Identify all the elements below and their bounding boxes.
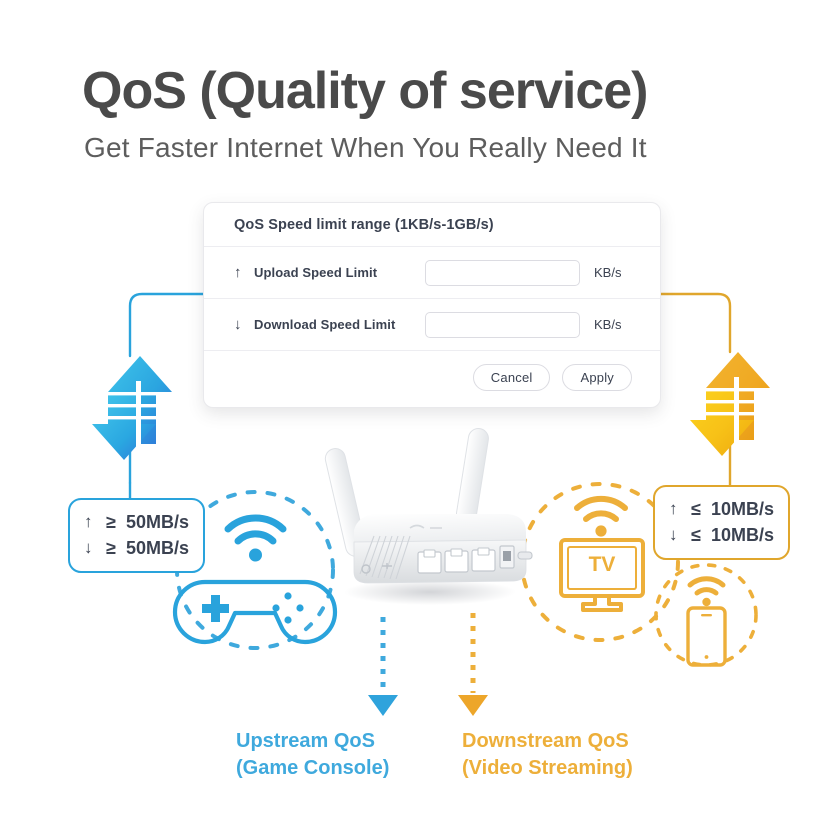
arrow-down-icon: ↓ xyxy=(234,316,254,333)
router-device-image xyxy=(312,424,542,609)
arrow-up-icon: ↑ xyxy=(234,264,254,281)
upload-speed-limit-label: Upload Speed Limit xyxy=(254,265,425,280)
pointer-upstream xyxy=(368,617,398,716)
download-speed-limit-label: Download Speed Limit xyxy=(254,317,425,332)
arrow-down-icon: ↓ xyxy=(84,536,106,561)
download-speed-limit-input[interactable] xyxy=(425,312,580,338)
downstream-down-value: 10MB/s xyxy=(711,522,774,548)
wifi-icon-console xyxy=(228,518,283,561)
downstream-caption-line2: (Video Streaming) xyxy=(462,755,633,782)
upload-speed-limit-input[interactable] xyxy=(425,260,580,286)
downstream-caption-line1: Downstream QoS xyxy=(462,728,633,755)
upload-unit-label: KB/s xyxy=(594,265,634,280)
apply-button[interactable]: Apply xyxy=(562,364,632,391)
dialog-footer: Cancel Apply xyxy=(204,351,660,407)
wire-right-top xyxy=(659,294,730,352)
downstream-phone-circle xyxy=(656,565,756,665)
operator-gte: ≥ xyxy=(106,509,126,535)
cancel-button[interactable]: Cancel xyxy=(473,364,551,391)
pointer-downstream xyxy=(458,613,488,716)
operator-lte: ≤ xyxy=(691,496,711,522)
gamepad-icon xyxy=(175,582,335,642)
upstream-caption: Upstream QoS (Game Console) xyxy=(236,728,389,782)
upload-speed-limit-row: ↑ Upload Speed Limit KB/s xyxy=(204,247,660,299)
arrow-down-icon: ↓ xyxy=(669,523,691,548)
upstream-down-value: 50MB/s xyxy=(126,535,189,561)
download-speed-limit-row: ↓ Download Speed Limit KB/s xyxy=(204,299,660,351)
tv-screen-label: TV xyxy=(561,553,643,577)
dialog-title: QoS Speed limit range (1KB/s-1GB/s) xyxy=(204,203,660,247)
qos-speed-limit-dialog: QoS Speed limit range (1KB/s-1GB/s) ↑ Up… xyxy=(203,202,661,408)
downstream-speed-arrows-icon xyxy=(690,352,774,456)
smartphone-icon xyxy=(688,608,725,665)
download-unit-label: KB/s xyxy=(594,317,634,332)
upstream-up-value: 50MB/s xyxy=(126,509,189,535)
upstream-badge-line-down: ↓ ≥ 50MB/s xyxy=(84,535,189,561)
downstream-caption: Downstream QoS (Video Streaming) xyxy=(462,728,633,782)
page-subtitle: Get Faster Internet When You Really Need… xyxy=(84,132,784,164)
upstream-speed-arrows-icon xyxy=(92,356,176,460)
wifi-icon-phone xyxy=(690,579,723,606)
downstream-up-value: 10MB/s xyxy=(711,496,774,522)
page-title: QoS (Quality of service) xyxy=(82,64,762,119)
upstream-badge-line-up: ↑ ≥ 50MB/s xyxy=(84,509,189,535)
upstream-speed-badge: ↑ ≥ 50MB/s ↓ ≥ 50MB/s xyxy=(68,498,205,573)
upstream-caption-line2: (Game Console) xyxy=(236,755,389,782)
wire-left-top xyxy=(130,294,203,356)
poster-canvas: QoS (Quality of service) Get Faster Inte… xyxy=(0,0,833,833)
wifi-icon-tv xyxy=(577,499,625,537)
connector-graphics xyxy=(0,0,833,833)
arrow-up-icon: ↑ xyxy=(84,510,106,535)
arrow-up-icon: ↑ xyxy=(669,497,691,522)
downstream-badge-line-down: ↓ ≤ 10MB/s xyxy=(669,522,774,548)
downstream-badge-line-up: ↑ ≤ 10MB/s xyxy=(669,496,774,522)
upstream-caption-line1: Upstream QoS xyxy=(236,728,389,755)
operator-lte: ≤ xyxy=(691,522,711,548)
operator-gte: ≥ xyxy=(106,535,126,561)
downstream-speed-badge: ↑ ≤ 10MB/s ↓ ≤ 10MB/s xyxy=(653,485,790,560)
